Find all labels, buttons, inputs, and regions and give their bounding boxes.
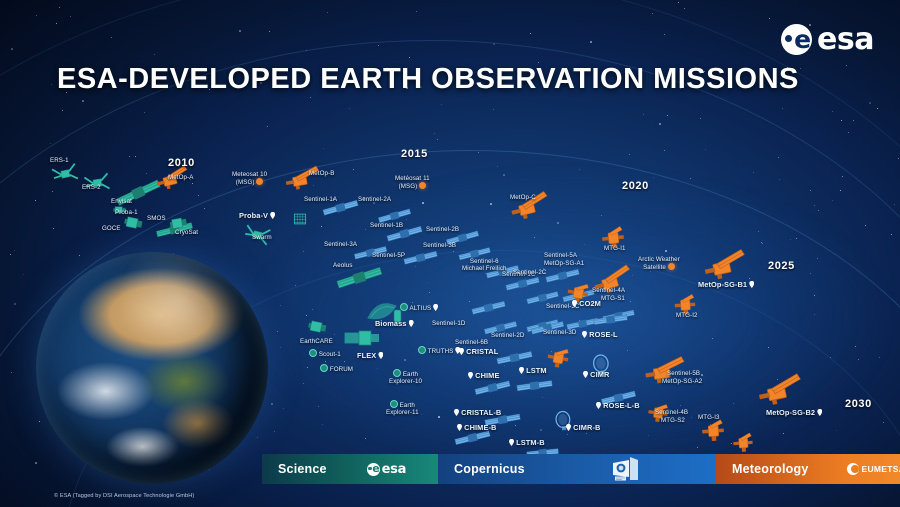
label-text: Sentinel-5P — [372, 252, 405, 259]
satellite-icon-meteorology — [750, 373, 805, 408]
earth-globe — [36, 252, 268, 484]
mission-label-sentinel-6-michael-freilich[interactable]: Sentinel-6Michael Freilich — [462, 258, 507, 273]
mission-label-cimr-b[interactable]: CIMR-B — [566, 424, 600, 433]
label-text: GOCE — [102, 225, 121, 232]
mission-label-envisat[interactable]: Envisat — [111, 198, 132, 205]
mission-label-metop-sg-a2[interactable]: MetOp-SG-A2 — [662, 378, 702, 385]
label-text: MTG-I2 — [676, 312, 698, 319]
satellite-icon-copernicus — [496, 348, 534, 368]
pin-icon — [378, 352, 383, 359]
satellite-icon-meteorology — [545, 345, 571, 371]
mission-label-ers-1[interactable]: ERS-1 — [50, 157, 69, 164]
pin-icon — [409, 320, 414, 327]
mission-label-sentinel-6b[interactable]: Sentinel-6B — [455, 339, 488, 346]
label-text: Sentinel-4B — [655, 409, 688, 416]
label-text: Sentinel-1D — [432, 320, 465, 327]
label-text: CIMR-B — [573, 423, 600, 432]
label-text: Proba-1 — [115, 209, 138, 216]
label-text: MTG-I3 — [698, 414, 720, 421]
mission-label-flex[interactable]: FLEX — [357, 352, 383, 361]
label-text: Sentinel-1B — [370, 222, 403, 229]
mission-label-earth-explorer-11[interactable]: EarthExplorer-11 — [386, 400, 419, 417]
label-text: MetOp-SG-A1 — [544, 260, 584, 267]
pin-icon — [596, 402, 601, 409]
label-text: Sentinel-3D — [543, 329, 576, 336]
mission-label-rose-l[interactable]: ROSE-L — [582, 331, 618, 340]
geo-satellite-icon — [419, 182, 426, 189]
pin-icon — [749, 281, 754, 288]
esa-mark-icon: e — [781, 24, 812, 55]
mission-label-metop-b[interactable]: MetOp-B — [309, 170, 334, 177]
label-text: CryoSat — [175, 229, 198, 236]
mission-label-goce[interactable]: GOCE — [102, 225, 121, 232]
label-text: Scout-1 — [319, 351, 341, 358]
mission-label-cimr[interactable]: CIMR — [583, 371, 609, 380]
page-title: ESA-DEVELOPED EARTH OBSERVATION MISSIONS — [57, 63, 799, 96]
mission-label-cryosat[interactable]: CryoSat — [175, 229, 198, 236]
mission-label-metop-c[interactable]: MetOp-C — [510, 194, 536, 201]
eumetsat-badge-text: EUMETSAT — [862, 464, 900, 474]
label-text: CRISTAL — [466, 347, 498, 356]
legend-meteorology[interactable]: Meteorology EUMETSAT — [716, 454, 900, 484]
satellite-icon-science — [307, 318, 329, 336]
label-text: ALTIUS — [409, 305, 431, 312]
legend-science[interactable]: Science e esa — [262, 454, 438, 484]
label-text: MetOp-SG-B2 — [766, 408, 815, 417]
dot-icon — [390, 400, 398, 408]
satellite-icon-meteorology — [696, 249, 748, 283]
mission-label-mtg-i1[interactable]: MTG-I1 — [604, 245, 626, 252]
year-marker-2020: 2020 — [622, 180, 649, 193]
mission-label-rose-l-b[interactable]: ROSE-L-B — [596, 402, 640, 411]
label-text: Sentinel-6B — [455, 339, 488, 346]
pin-icon — [583, 371, 588, 378]
satellite-icon-science — [123, 214, 145, 232]
mission-label-mtg-i3[interactable]: MTG-I3 — [698, 414, 720, 421]
label-text: Swarm — [252, 234, 272, 241]
mission-label-sentinel-3b[interactable]: Sentinel-3B — [423, 242, 456, 249]
satellite-icon-copernicus — [593, 312, 628, 328]
dot-icon — [320, 364, 328, 372]
label-text: MTG-S1 — [601, 295, 625, 302]
pin-icon — [509, 439, 514, 446]
year-marker-2025: 2025 — [768, 260, 795, 273]
label-text: Envisat — [111, 198, 132, 205]
label-text: ERS-2 — [82, 184, 101, 191]
mission-label-meteosat-11-msg-[interactable]: Meteosat 11(MSG) — [395, 175, 430, 191]
mission-label-swarm[interactable]: Swarm — [252, 234, 272, 241]
satellite-icon-meteorology — [732, 432, 754, 454]
eumetsat-badge-icon: EUMETSAT — [847, 463, 900, 475]
label-text: MetOp-B — [309, 170, 334, 177]
label-text: SMOS — [147, 215, 166, 222]
satellite-icon-copernicus — [403, 248, 439, 268]
legend-copernicus-label: Copernicus — [454, 462, 525, 476]
label-text: CHIME-B — [464, 423, 496, 432]
mission-label-sentinel-2a[interactable]: Sentinel-2A — [358, 196, 391, 203]
geo-satellite-icon — [256, 178, 263, 185]
label-text: ERS-1 — [50, 157, 69, 164]
pin-icon — [270, 212, 275, 219]
mission-label-sentinel-2d[interactable]: Sentinel-2D — [491, 332, 524, 339]
mission-label-scout-1[interactable]: Scout-1 — [309, 349, 341, 358]
mission-label-arctic-weather-satellite[interactable]: Arctic WeatherSatellite — [638, 256, 680, 272]
satellite-icon-copernicus — [471, 298, 507, 318]
year-marker-2015: 2015 — [401, 148, 428, 161]
mission-label-metop-sg-a1[interactable]: MetOp-SG-A1 — [544, 260, 584, 267]
pin-icon — [566, 424, 571, 431]
mission-label-cristal[interactable]: CRISTAL — [459, 348, 498, 357]
satellite-icon-science — [51, 162, 78, 186]
label-text: CHIME — [475, 371, 499, 380]
label-text: Sentinel-2D — [491, 332, 524, 339]
label-text: MTG-S2 — [661, 417, 685, 424]
label-text: Sentinel-5B — [667, 370, 700, 377]
mission-label-metop-a[interactable]: MetOp-A — [168, 174, 193, 181]
label-text: MetOp-C — [510, 194, 536, 201]
label-text: FLEX — [357, 351, 376, 360]
label-text: MetOp-SG-B1 — [698, 280, 747, 289]
mission-label-ers-2[interactable]: ERS-2 — [82, 184, 101, 191]
copyright-notice: © ESA (Tagged by DSI Aerospace Technolog… — [54, 493, 194, 499]
mission-label-earthcare[interactable]: EarthCARE — [300, 338, 333, 345]
esa-logo-word: esa — [817, 22, 874, 57]
satellite-icon-science — [345, 330, 379, 346]
pin-icon — [582, 331, 587, 338]
mission-label-biomass[interactable]: Biomass — [375, 320, 414, 329]
label-text: CO2M — [579, 299, 601, 308]
dot-icon — [418, 346, 426, 354]
mission-label-chime[interactable]: CHIME — [468, 372, 499, 381]
mission-label-mtg-s1[interactable]: MTG-S1 — [601, 295, 625, 302]
label-text: Proba-V — [239, 211, 268, 220]
year-marker-2010: 2010 — [168, 157, 195, 170]
year-marker-2030: 2030 — [845, 398, 872, 411]
pin-icon — [433, 304, 438, 311]
mission-label-forum[interactable]: FORUM — [320, 364, 353, 373]
label-text: EarthCARE — [300, 338, 333, 345]
label-text: TRUTHS — [428, 348, 454, 355]
mission-label-sentinel-3d[interactable]: Sentinel-3D — [543, 329, 576, 336]
mission-label-smos[interactable]: SMOS — [147, 215, 166, 222]
mission-label-chime-b[interactable]: CHIME-B — [457, 424, 496, 433]
esa-logo-letter: e — [794, 27, 811, 52]
mission-label-co2m[interactable]: CO2M — [572, 300, 601, 309]
esa-logo: e esa — [781, 22, 874, 57]
label-text: Sentinel-5A — [544, 252, 577, 259]
label-text: MetOp-SG-A2 — [662, 378, 702, 385]
label-text: ROSE-L — [589, 330, 618, 339]
mission-label-sentinel-1d[interactable]: Sentinel-1D — [432, 320, 465, 327]
mission-label-sentinel-1a[interactable]: Sentinel-1A — [304, 196, 337, 203]
mission-label-meteosat-10-msg-[interactable]: Meteosat 10(MSG) — [232, 171, 267, 187]
mission-label-metop-sg-b1[interactable]: MetOp-SG-B1 — [698, 281, 754, 290]
mission-label-sentinel-5a[interactable]: Sentinel-5A — [544, 252, 577, 259]
label-text: FORUM — [330, 366, 353, 373]
satellite-icon-science — [293, 213, 307, 226]
label-text: Sentinel-3B — [423, 242, 456, 249]
pin-icon — [454, 409, 459, 416]
mission-label-sentinel-2b[interactable]: Sentinel-2B — [426, 226, 459, 233]
mission-label-altius[interactable]: ALTIUS — [400, 303, 438, 312]
mission-label-sentinel-5p[interactable]: Sentinel-5P — [372, 252, 405, 259]
label-text: ROSE-L-B — [603, 401, 640, 410]
mission-label-sentinel-4a[interactable]: Sentinel-4A — [592, 287, 625, 294]
mission-label-cristal-b[interactable]: CRISTAL-B — [454, 409, 501, 418]
label-text: MetOp-A — [168, 174, 193, 181]
label-text: Sentinel-4A — [592, 287, 625, 294]
pin-icon — [817, 409, 822, 416]
label-text: Biomass — [375, 319, 407, 328]
dot-icon — [400, 303, 408, 311]
mission-label-mtg-i2[interactable]: MTG-I2 — [676, 312, 698, 319]
satellite-icon-copernicus — [516, 377, 553, 394]
esa-badge-letter: e — [372, 463, 379, 474]
mission-label-sentinel-2c[interactable]: Sentinel-2C — [513, 269, 546, 276]
mission-label-sentinel-3a[interactable]: Sentinel-3A — [324, 241, 357, 248]
copernicus-icon — [611, 456, 645, 482]
label-text: CRISTAL-B — [461, 408, 501, 417]
mission-label-sentinel-5b[interactable]: Sentinel-5B — [667, 370, 700, 377]
infographic-canvas: ESA-DEVELOPED EARTH OBSERVATION MISSIONS… — [0, 0, 900, 507]
label-text: Aeolus — [333, 262, 353, 269]
label-text: Sentinel-3A — [324, 241, 357, 248]
satellite-icon-copernicus — [602, 307, 636, 325]
legend-science-label: Science — [278, 462, 327, 476]
pin-icon — [519, 367, 524, 374]
mission-label-earth-explorer-10[interactable]: EarthExplorer-10 — [389, 369, 422, 386]
mission-label-lstm-b[interactable]: LSTM-B — [509, 439, 545, 448]
mission-label-metop-sg-b2[interactable]: MetOp-SG-B2 — [766, 409, 822, 418]
label-text: Sentinel-2C — [513, 269, 546, 276]
label-text: MTG-I1 — [604, 245, 626, 252]
legend-bar: Science e esa Copernicus Mete — [262, 454, 900, 484]
label-text: CIMR — [590, 370, 609, 379]
label-text: Sentinel-6Michael Freilich — [462, 258, 507, 272]
mission-label-mtg-s2[interactable]: MTG-S2 — [661, 417, 685, 424]
label-text: LSTM — [526, 366, 547, 375]
mission-label-proba-v[interactable]: Proba-V — [239, 212, 275, 221]
dot-icon — [393, 369, 401, 377]
geo-satellite-icon — [668, 263, 675, 270]
label-text: Sentinel-2B — [426, 226, 459, 233]
mission-label-truths[interactable]: TRUTHS — [418, 346, 460, 355]
legend-meteorology-label: Meteorology — [732, 462, 809, 476]
label-text: LSTM-B — [516, 438, 545, 447]
mission-label-lstm[interactable]: LSTM — [519, 367, 547, 376]
dot-icon — [309, 349, 317, 357]
satellite-icon-meteorology — [701, 419, 726, 444]
mission-label-aeolus[interactable]: Aeolus — [333, 262, 353, 269]
pin-icon — [572, 300, 577, 307]
mission-label-sentinel-4b[interactable]: Sentinel-4B — [655, 409, 688, 416]
legend-copernicus[interactable]: Copernicus — [438, 454, 716, 484]
pin-icon — [468, 372, 473, 379]
mission-label-proba-1[interactable]: Proba-1 — [115, 209, 138, 216]
pin-icon — [459, 348, 464, 355]
esa-badge-word: esa — [382, 462, 406, 477]
earth-limb — [36, 252, 268, 484]
label-text: Sentinel-2A — [358, 196, 391, 203]
pin-icon — [457, 424, 462, 431]
label-text: Sentinel-1A — [304, 196, 337, 203]
mission-label-sentinel-1b[interactable]: Sentinel-1B — [370, 222, 403, 229]
esa-badge-icon: e esa — [367, 462, 406, 477]
satellite-icon-copernicus — [545, 266, 581, 286]
